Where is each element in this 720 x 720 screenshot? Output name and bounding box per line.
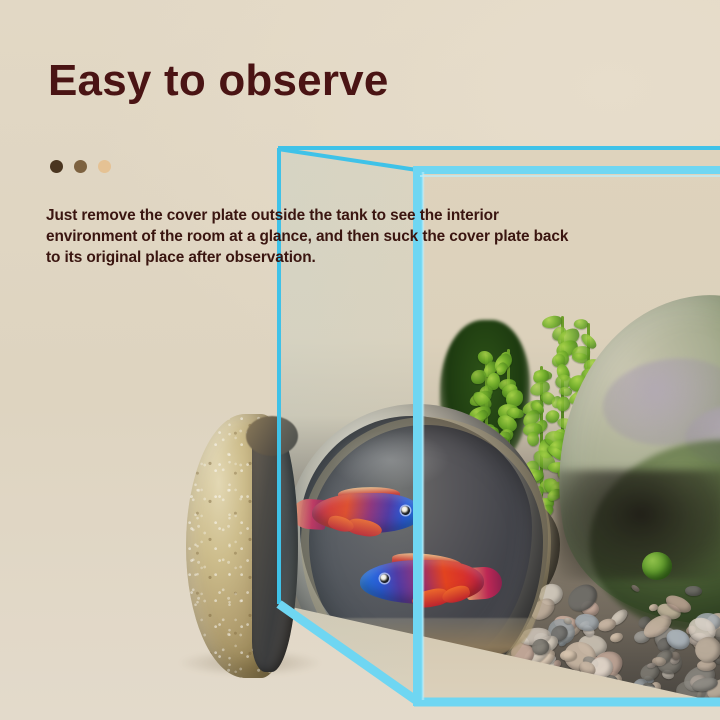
fish-upper: [312, 493, 422, 533]
cover-plate-edge: [252, 420, 298, 672]
gravel-pebble: [630, 584, 640, 593]
moss-ball: [642, 552, 672, 580]
product-feature-slide: Easy to observe Just remove the cover pl…: [0, 0, 720, 720]
decor-dot-2: [74, 160, 87, 173]
cave-highlight: [330, 430, 450, 490]
decor-dot-1: [50, 160, 63, 173]
cover-plate-edge-top: [246, 416, 298, 456]
gravel-pebble: [609, 632, 624, 644]
gravel-pebble: [597, 617, 618, 633]
page-title: Easy to observe: [48, 58, 389, 104]
fish-lower: [360, 560, 484, 604]
cover-plate: [186, 414, 304, 678]
body-description: Just remove the cover plate outside the …: [46, 205, 576, 268]
decor-dot-3: [98, 160, 111, 173]
decor-dot-group: [50, 160, 111, 173]
gravel-pebble: [685, 586, 702, 597]
plant-leaf: [471, 370, 486, 385]
